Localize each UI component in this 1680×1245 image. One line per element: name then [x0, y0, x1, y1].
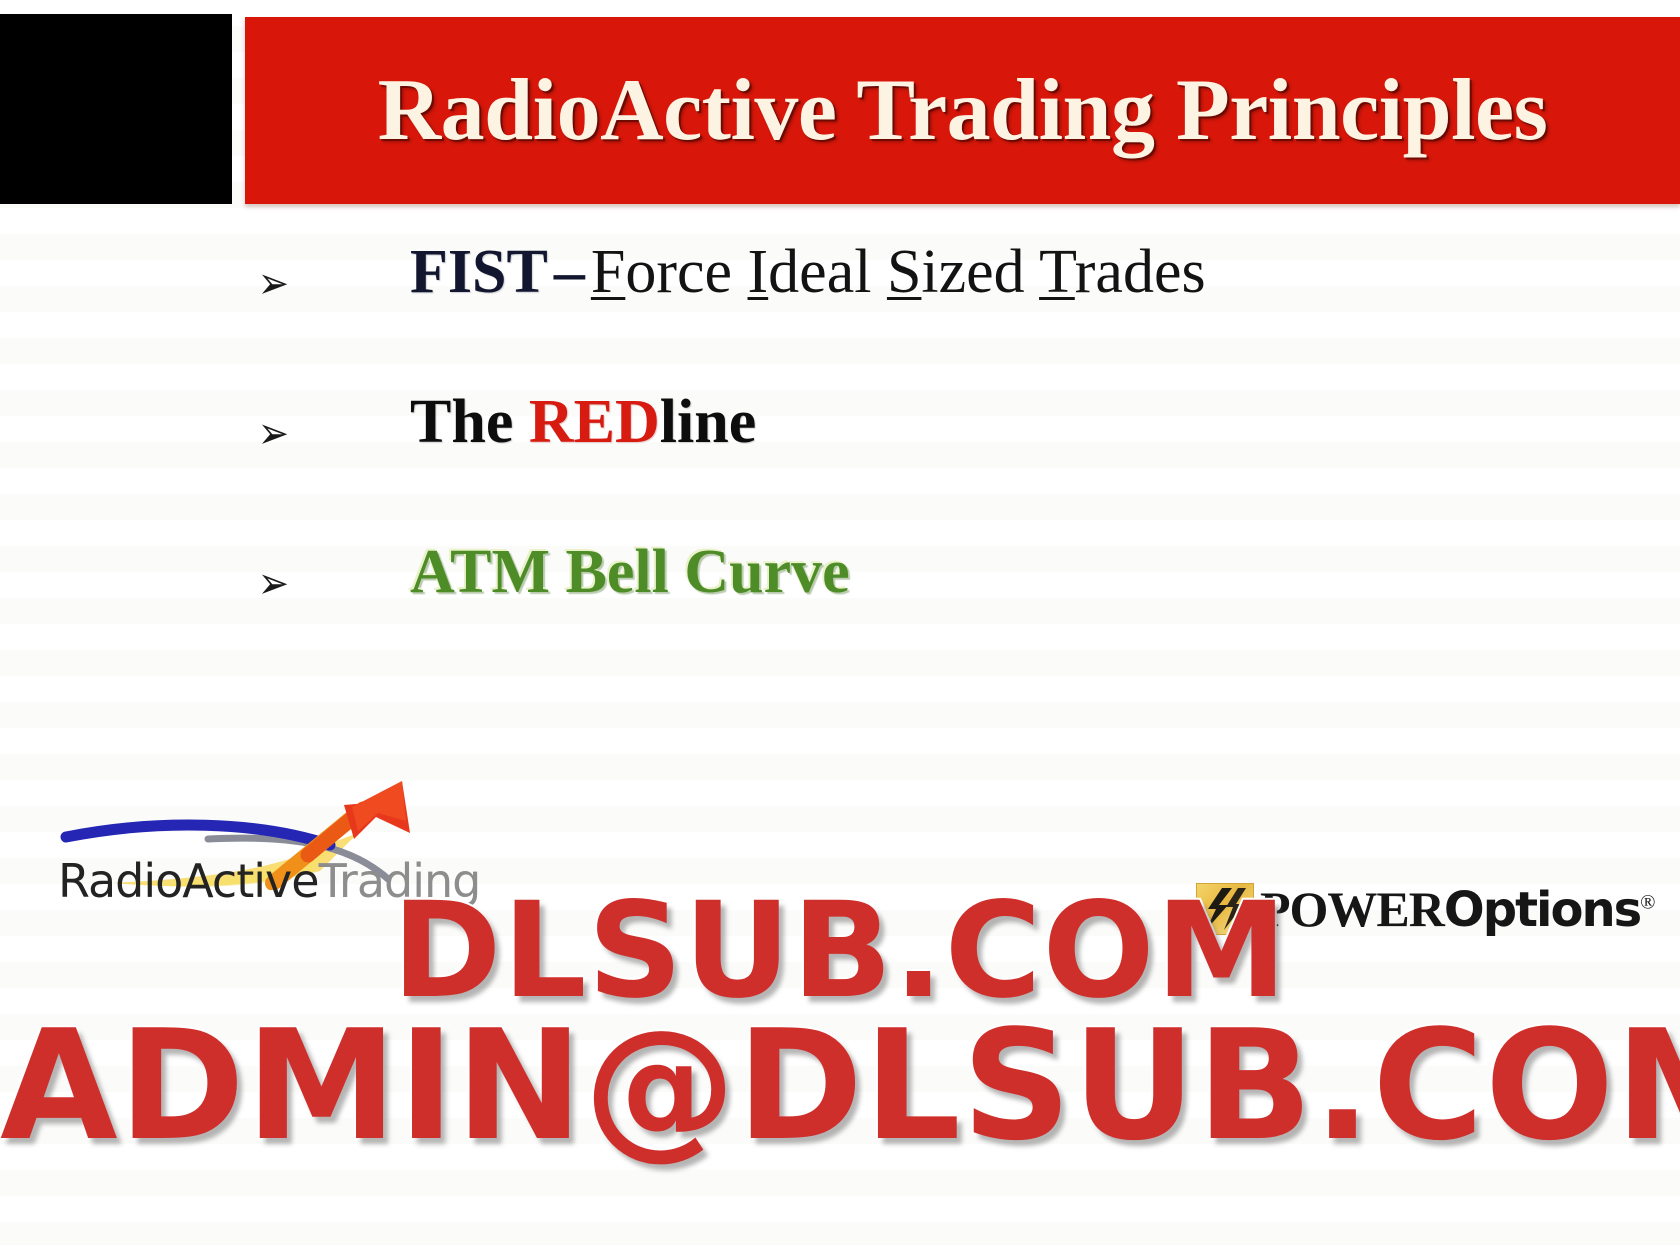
arrow-bullet-icon: ➢ [258, 262, 289, 306]
bullet-item-redline: ➢ The REDline [0, 388, 1680, 538]
redline-suffix: line [660, 388, 756, 456]
bullet-text-atm-bell-curve: ATM Bell Curve [410, 538, 850, 606]
bullet-item-fist: ➢ FIST–Force Ideal Sized Trades [0, 238, 1680, 388]
fist-word-force: orce [625, 238, 747, 306]
fist-acronym: FIST [410, 238, 548, 306]
slide-header: RadioActive Trading Principles [0, 0, 1680, 215]
page-title: RadioActive Trading Principles [378, 67, 1548, 155]
fist-expansion: Force Ideal Sized Trades [591, 238, 1206, 306]
fist-letter-f: F [591, 238, 625, 306]
redline-highlight: RED [529, 388, 660, 456]
fist-word-ideal: deal [768, 238, 887, 306]
fist-letter-t: T [1039, 238, 1075, 306]
title-banner: RadioActive Trading Principles [245, 17, 1680, 204]
watermark-contact-email: ADMIN@DLSUB.COM [0, 1010, 1680, 1162]
bullet-item-atm-bell-curve: ➢ ATM Bell Curve [0, 538, 1680, 688]
arrow-bullet-icon: ➢ [258, 562, 289, 606]
bullet-text-redline: The REDline [410, 388, 756, 456]
fist-letter-s: S [887, 238, 921, 306]
fist-word-sized: ized [921, 238, 1039, 306]
redline-prefix: The [410, 388, 529, 456]
fist-word-trades: rades [1075, 238, 1206, 306]
slide-canvas: RadioActive Trading Principles ➢ FIST–Fo… [0, 0, 1680, 1245]
fist-dash: – [548, 238, 591, 306]
bullet-text-fist: FIST–Force Ideal Sized Trades [410, 238, 1206, 306]
header-black-block [0, 14, 232, 204]
fist-letter-i: I [748, 238, 769, 306]
bullet-list: ➢ FIST–Force Ideal Sized Trades ➢ The RE… [0, 238, 1680, 688]
arrow-bullet-icon: ➢ [258, 412, 289, 456]
